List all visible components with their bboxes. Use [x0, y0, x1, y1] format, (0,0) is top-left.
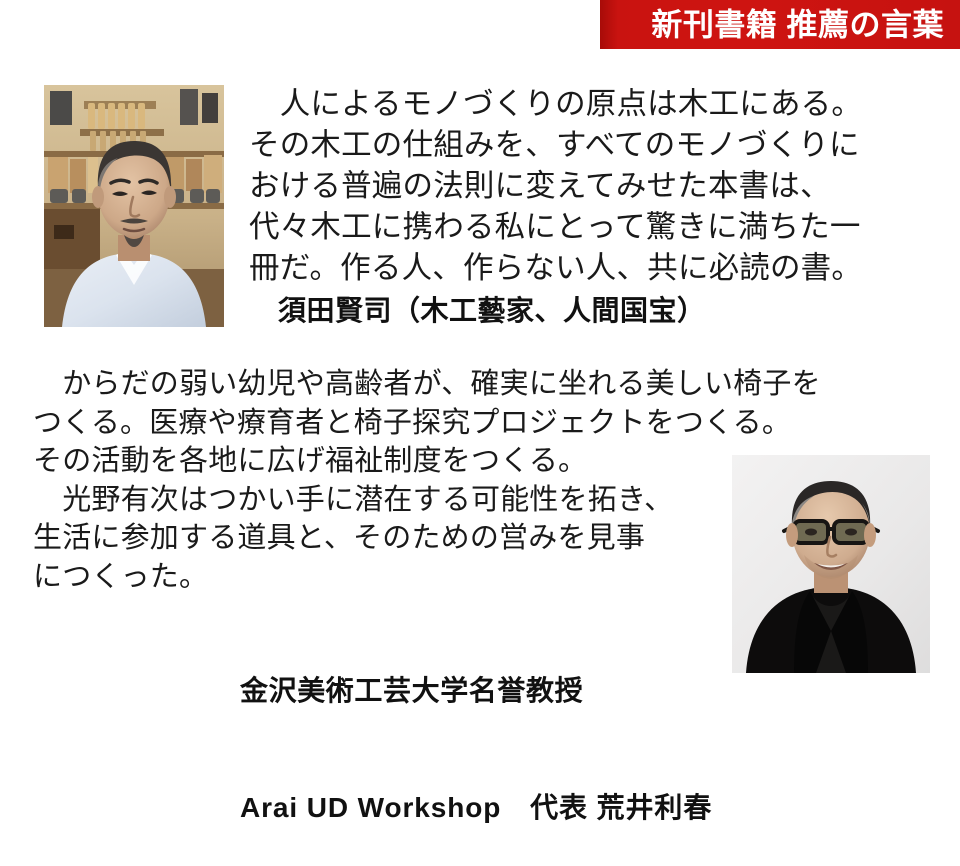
testimonial-quote-arai: からだの弱い幼児や高齢者が、確実に坐れる美しい椅子を つくる。医療や療育者と椅子… — [33, 365, 821, 596]
portrait-arai-toshiharu-image — [732, 455, 930, 673]
portrait-photo-suda-kenji — [44, 85, 224, 327]
testimonial-attribution-arai: 金沢美術工芸大学名誉教授 Arai UD Workshop 代表 荒井利春 — [240, 593, 712, 866]
attribution-arai-line-1: 金沢美術工芸大学名誉教授 — [240, 671, 712, 710]
portrait-photo-arai-toshiharu — [732, 455, 930, 673]
testimonial-quote-suda: 人によるモノづくりの原点は木工にある。 その木工の仕組みを、すべてのモノづくりに… — [249, 84, 862, 289]
portrait-suda-kenji-image — [44, 85, 224, 327]
header-banner-label: 新刊書籍 推薦の言葉 — [600, 9, 944, 40]
attribution-arai-line-2: Arai UD Workshop 代表 荒井利春 — [240, 788, 712, 827]
testimonial-attribution-suda: 須田賢司（木工藝家、人間国宝） — [278, 292, 706, 330]
header-banner: 新刊書籍 推薦の言葉 — [600, 0, 960, 49]
